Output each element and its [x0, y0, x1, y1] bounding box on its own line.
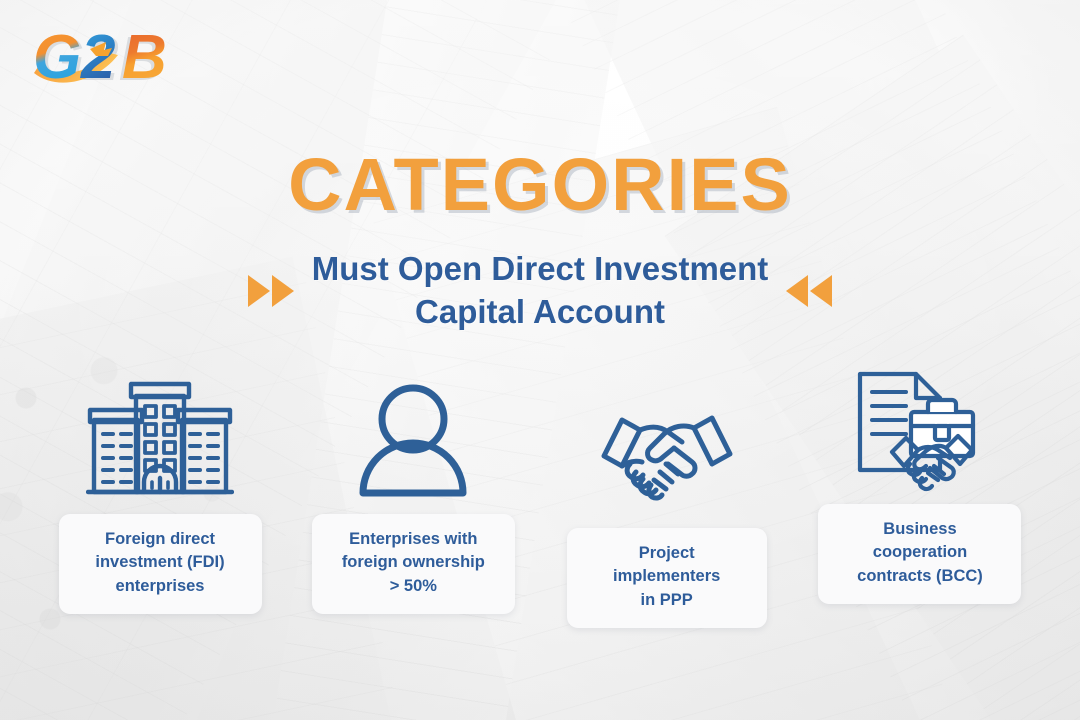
category-label-card: Enterprises with foreign ownership > 50% — [312, 514, 515, 614]
icon-container — [854, 372, 986, 492]
category-label-card: Business cooperation contracts (BCC) — [818, 504, 1021, 604]
label-line-1: Project — [579, 542, 755, 565]
office-building-icon — [86, 378, 234, 498]
label-line-2: cooperation — [830, 541, 1009, 564]
category-label-card: Project implementers in PPP — [567, 528, 767, 628]
label-line-2: foreign ownership — [324, 551, 503, 574]
category-item-foreign-ownership[interactable]: Enterprises with foreign ownership > 50% — [298, 380, 528, 614]
subtitle-block: Must Open Direct Investment Capital Acco… — [0, 248, 1080, 334]
label-line-3: in PPP — [579, 589, 755, 612]
category-label-card: Foreign direct investment (FDI) enterpri… — [59, 514, 262, 614]
subtitle-line-2: Capital Account — [312, 291, 769, 334]
content-layer: G2B G 2 B CATEGORIES — [0, 0, 1080, 720]
page-title: CATEGORIES — [0, 148, 1080, 222]
handshake-icon — [596, 402, 738, 506]
subtitle-line-1: Must Open Direct Investment — [312, 248, 769, 291]
label-line-3: > 50% — [324, 575, 503, 598]
infographic-canvas: G2B G 2 B CATEGORIES — [0, 0, 1080, 720]
icon-container — [596, 394, 738, 514]
icon-container — [86, 378, 234, 498]
svg-text:G: G — [33, 23, 81, 92]
svg-text:B: B — [122, 23, 167, 92]
contract-briefcase-handshake-icon — [854, 368, 986, 496]
double-triangle-right-icon — [248, 275, 294, 307]
person-user-icon — [355, 381, 471, 499]
icon-container — [355, 380, 471, 500]
category-item-bcc-contracts[interactable]: Business cooperation contracts (BCC) — [805, 372, 1035, 604]
label-line-1: Enterprises with — [324, 528, 503, 551]
category-item-ppp-implementers[interactable]: Project implementers in PPP — [552, 394, 782, 628]
label-line-1: Business — [830, 518, 1009, 541]
label-line-2: implementers — [579, 565, 755, 588]
double-triangle-left-icon — [786, 275, 832, 307]
label-line-1: Foreign direct — [71, 528, 250, 551]
category-item-fdi-enterprises[interactable]: Foreign direct investment (FDI) enterpri… — [45, 378, 275, 614]
subtitle-text: Must Open Direct Investment Capital Acco… — [312, 248, 769, 334]
category-list: Foreign direct investment (FDI) enterpri… — [45, 372, 1035, 628]
label-line-3: contracts (BCC) — [830, 565, 1009, 588]
logo-g2b[interactable]: G2B G 2 B — [28, 22, 196, 94]
svg-text:2: 2 — [80, 23, 115, 92]
label-line-2: investment (FDI) — [71, 551, 250, 574]
label-line-3: enterprises — [71, 575, 250, 598]
